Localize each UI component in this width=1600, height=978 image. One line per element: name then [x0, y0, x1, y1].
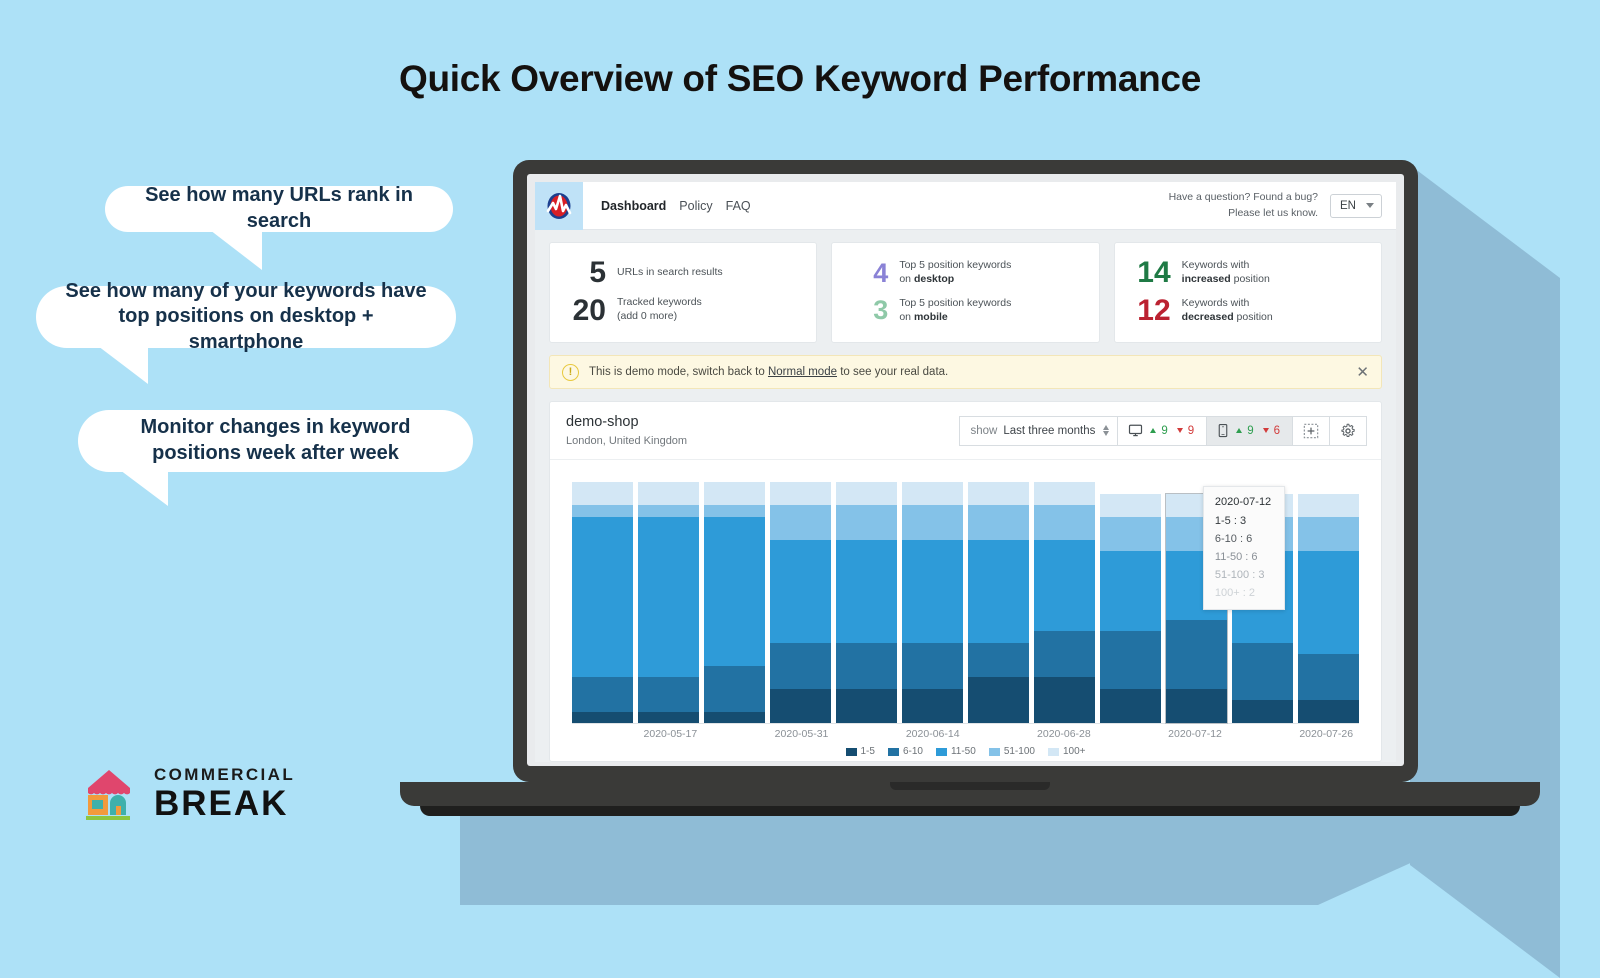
card-top5: 4 Top 5 position keywords on desktop 3 T…	[831, 242, 1099, 343]
bubble-tail	[210, 230, 262, 270]
stat-label: Keywords with increased position	[1182, 259, 1270, 287]
bar-segment-11-50	[902, 540, 963, 643]
mobile-down-value: 6	[1274, 425, 1280, 437]
desktop-down-metric: 9	[1177, 425, 1196, 437]
bar-segment-1-5	[968, 677, 1029, 723]
shop-house-icon	[78, 762, 140, 824]
legend-swatch	[846, 748, 857, 756]
stat-label: Top 5 position keywords on mobile	[899, 297, 1011, 325]
legend-label: 6-10	[903, 746, 923, 757]
sort-updown-icon	[1103, 425, 1109, 436]
bar-segment-51-100	[770, 505, 831, 539]
bar-segment-1-5	[1100, 689, 1161, 723]
desktop-down-value: 9	[1188, 425, 1194, 437]
stat-value: 3	[850, 298, 888, 322]
tooltip-row-6-10: 6-10 : 6	[1215, 533, 1273, 545]
warning-icon: !	[562, 364, 579, 381]
shop-info: demo-shop London, United Kingdom	[566, 414, 687, 447]
bar-segment-100+	[902, 482, 963, 505]
stat-top5-mobile: 3 Top 5 position keywords on mobile	[850, 297, 1080, 325]
legend-item-1-5[interactable]: 1-5	[846, 746, 875, 757]
laptop-frame: Dashboard Policy FAQ Have a question? Fo…	[513, 160, 1418, 782]
page-title: Quick Overview of SEO Keyword Performanc…	[0, 58, 1600, 100]
monitor-icon	[1128, 423, 1143, 438]
smartphone-icon	[1217, 423, 1229, 438]
stat-label: Tracked keywords (add 0 more)	[617, 296, 702, 324]
label-suffix: position	[1231, 273, 1270, 285]
x-axis-tick: 2020-05-31	[775, 728, 829, 740]
chart-bar[interactable]	[968, 482, 1029, 723]
stat-urls-in-search: 5 URLs in search results	[568, 259, 798, 286]
bubble-tail	[120, 470, 168, 506]
stat-decreased: 12 Keywords with decreased position	[1133, 297, 1363, 325]
chart-legend: 1-56-1011-5051-100100+	[572, 746, 1359, 761]
main-nav: Dashboard Policy FAQ	[601, 199, 751, 213]
bar-segment-1-5	[1166, 689, 1227, 723]
stat-cards: 5 URLs in search results 20 Tracked keyw…	[535, 230, 1396, 343]
x-axis-tick: 2020-05-17	[644, 728, 698, 740]
bar-segment-11-50	[704, 517, 765, 666]
brand-badge[interactable]	[535, 182, 583, 230]
legend-item-51-100[interactable]: 51-100	[989, 746, 1035, 757]
bar-segment-1-5	[638, 712, 699, 723]
app-window: Dashboard Policy FAQ Have a question? Fo…	[535, 182, 1396, 762]
stat-label-line2: increased position	[1182, 273, 1270, 287]
stat-label-line1: Keywords with	[1182, 259, 1270, 273]
chart-bar[interactable]	[836, 482, 897, 723]
close-icon[interactable]: ✕	[1356, 365, 1369, 380]
bar-segment-1-5	[1298, 700, 1359, 723]
nav-item-dashboard[interactable]: Dashboard	[601, 199, 666, 213]
logo-line-2: BREAK	[154, 786, 295, 821]
topbar-right: Have a question? Found a bug? Please let…	[1169, 190, 1396, 220]
x-axis-tick: 2020-07-26	[1299, 728, 1353, 740]
label-suffix: position	[1234, 311, 1273, 323]
stat-tracked-keywords: 20 Tracked keywords (add 0 more)	[568, 296, 798, 324]
bar-segment-6-10	[770, 643, 831, 689]
bar-segment-51-100	[638, 505, 699, 516]
bar-segment-11-50	[836, 540, 897, 643]
stat-label-line1: Tracked keywords	[617, 296, 702, 310]
settings-button[interactable]	[1329, 416, 1367, 446]
chart-toolbar: show Last three months	[960, 416, 1367, 446]
bar-segment-11-50	[572, 517, 633, 677]
stat-label-line2: (add 0 more)	[617, 310, 702, 324]
bar-segment-1-5	[1232, 700, 1293, 723]
bar-segment-1-5	[572, 712, 633, 723]
help-text: Have a question? Found a bug? Please let…	[1169, 190, 1318, 220]
stat-label-line1: Keywords with	[1182, 297, 1273, 311]
period-value: Last three months	[1003, 425, 1095, 437]
banner-text-after: to see your real data.	[837, 366, 948, 378]
legend-item-6-10[interactable]: 6-10	[888, 746, 923, 757]
callout-text: See how many of your keywords have top p…	[62, 279, 430, 356]
chart-x-axis: 2020-05-172020-05-312020-06-142020-06-28…	[572, 724, 1359, 746]
stat-label-text: URLs in search results	[617, 266, 723, 278]
stat-label-line2: decreased position	[1182, 311, 1273, 325]
bar-segment-6-10	[704, 666, 765, 712]
bar-segment-100+	[638, 482, 699, 505]
bar-segment-100+	[836, 482, 897, 505]
stat-value: 4	[850, 261, 888, 285]
stat-label-line1: Top 5 position keywords	[899, 297, 1011, 311]
bar-segment-1-5	[770, 689, 831, 723]
help-line-2: Please let us know.	[1169, 206, 1318, 221]
triangle-down-icon	[1177, 428, 1183, 433]
bar-segment-100+	[1100, 494, 1161, 517]
shop-location: London, United Kingdom	[566, 435, 687, 447]
mobile-up-metric: 9	[1236, 425, 1255, 437]
callout-bubble-monitor-changes: Monitor changes in keyword positions wee…	[78, 410, 473, 472]
desktop-up-metric: 9	[1150, 425, 1169, 437]
tooltip-date: 2020-07-12	[1215, 496, 1273, 508]
logo-line-1: COMMERCIAL	[154, 766, 295, 783]
mobile-down-metric: 6	[1263, 425, 1282, 437]
desktop-up-value: 9	[1161, 425, 1167, 437]
x-axis-tick: 2020-06-14	[906, 728, 960, 740]
legend-label: 1-5	[861, 746, 875, 757]
label-strong: desktop	[914, 273, 954, 285]
bar-segment-11-50	[1034, 540, 1095, 632]
bubble-tail	[98, 346, 148, 384]
triangle-up-icon	[1236, 428, 1242, 433]
legend-label: 11-50	[951, 746, 976, 757]
tooltip-row-100+: 100+ : 2	[1215, 587, 1273, 599]
stat-value: 20	[568, 297, 606, 324]
bar-segment-11-50	[1100, 551, 1161, 631]
desktop-metric-toggle[interactable]: 9 9	[1117, 416, 1207, 446]
add-dashed-square-icon	[1303, 423, 1319, 439]
mobile-up-value: 9	[1247, 425, 1253, 437]
bar-segment-6-10	[902, 643, 963, 689]
x-axis-tick: 2020-06-28	[1037, 728, 1091, 740]
stat-label: Top 5 position keywords on desktop	[899, 259, 1011, 287]
legend-swatch	[989, 748, 1000, 756]
bar-segment-51-100	[902, 505, 963, 539]
language-select[interactable]: EN	[1330, 194, 1382, 218]
chart-tooltip: 2020-07-121-5 : 36-10 : 611-50 : 651-100…	[1203, 486, 1285, 610]
stat-label: URLs in search results	[617, 266, 723, 280]
bar-segment-100+	[968, 482, 1029, 505]
stat-increased: 14 Keywords with increased position	[1133, 259, 1363, 287]
bar-segment-6-10	[638, 677, 699, 711]
tooltip-row-1-5: 1-5 : 3	[1215, 515, 1273, 527]
stat-top5-desktop: 4 Top 5 position keywords on desktop	[850, 259, 1080, 287]
bar-segment-100+	[770, 482, 831, 505]
bar-segment-1-5	[704, 712, 765, 723]
card-urls: 5 URLs in search results 20 Tracked keyw…	[549, 242, 817, 343]
chart-bar[interactable]	[902, 482, 963, 723]
bar-segment-6-10	[1166, 620, 1227, 689]
bar-segment-6-10	[968, 643, 1029, 677]
legend-label: 100+	[1063, 746, 1086, 757]
bar-segment-51-100	[1100, 517, 1161, 551]
legend-swatch	[936, 748, 947, 756]
callout-text: See how many URLs rank in search	[131, 183, 427, 234]
bar-segment-6-10	[572, 677, 633, 711]
demo-mode-banner: ! This is demo mode, switch back to Norm…	[549, 355, 1382, 389]
chevron-down-icon	[1366, 203, 1374, 208]
brand-logo: COMMERCIAL BREAK	[78, 762, 295, 824]
bar-segment-100+	[1298, 494, 1359, 517]
tooltip-row-11-50: 11-50 : 6	[1215, 551, 1273, 563]
chart-bar[interactable]	[572, 482, 633, 723]
chart-bar[interactable]	[1034, 482, 1095, 723]
bar-segment-6-10	[1100, 631, 1161, 688]
legend-label: 51-100	[1004, 746, 1035, 757]
shop-name: demo-shop	[566, 414, 687, 430]
stat-label-line1: Top 5 position keywords	[899, 259, 1011, 273]
banner-text: This is demo mode, switch back to Normal…	[589, 366, 948, 378]
bar-segment-51-100	[836, 505, 897, 539]
chart-bar[interactable]	[1298, 494, 1359, 723]
gear-icon	[1340, 423, 1356, 439]
card-position-changes: 14 Keywords with increased position 12 K…	[1114, 242, 1382, 343]
stat-value: 5	[568, 259, 606, 286]
stat-label-line2: on mobile	[899, 311, 1011, 325]
x-axis-tick: 2020-07-12	[1168, 728, 1222, 740]
legend-item-100+[interactable]: 100+	[1048, 746, 1086, 757]
nav-item-faq[interactable]: FAQ	[726, 199, 751, 213]
legend-swatch	[1048, 748, 1059, 756]
triangle-up-icon	[1150, 428, 1156, 433]
bar-segment-1-5	[836, 689, 897, 723]
label-prefix: on	[899, 273, 914, 285]
bar-segment-51-100	[968, 505, 1029, 539]
bar-segment-51-100	[704, 505, 765, 516]
bar-segment-11-50	[770, 540, 831, 643]
bar-segment-11-50	[968, 540, 1029, 643]
bar-segment-51-100	[572, 505, 633, 516]
wm-logo-icon	[544, 191, 574, 221]
stat-value: 14	[1133, 259, 1171, 286]
mobile-metric-toggle[interactable]: 9 6	[1206, 416, 1293, 446]
help-line-1: Have a question? Found a bug?	[1169, 190, 1318, 205]
period-prefix: show	[970, 425, 997, 437]
bar-segment-6-10	[1034, 631, 1095, 677]
bar-segment-11-50	[1298, 551, 1359, 654]
chart-bar[interactable]	[704, 482, 765, 723]
bar-segment-51-100	[1298, 517, 1359, 551]
bar-segment-1-5	[1034, 677, 1095, 723]
stat-value: 12	[1133, 297, 1171, 324]
laptop-shadow	[1410, 165, 1560, 978]
stat-label-line2: on desktop	[899, 273, 1011, 287]
callout-bubble-top-positions: See how many of your keywords have top p…	[36, 286, 456, 348]
normal-mode-link[interactable]: Normal mode	[768, 366, 837, 378]
stat-label: Keywords with decreased position	[1182, 297, 1273, 325]
tooltip-row-51-100: 51-100 : 3	[1215, 569, 1273, 581]
bar-segment-6-10	[1298, 654, 1359, 700]
label-strong: increased	[1182, 273, 1231, 285]
stacked-bar-chart[interactable]: 2020-07-121-5 : 36-10 : 611-50 : 651-100…	[572, 482, 1359, 724]
bar-segment-100+	[704, 482, 765, 505]
bar-segment-100+	[572, 482, 633, 505]
label-strong: mobile	[914, 311, 948, 323]
app-topbar: Dashboard Policy FAQ Have a question? Fo…	[535, 182, 1396, 230]
callout-text: Monitor changes in keyword positions wee…	[104, 415, 447, 466]
chart-panel: demo-shop London, United Kingdom show La…	[549, 401, 1382, 762]
legend-swatch	[888, 748, 899, 756]
bar-segment-100+	[1034, 482, 1095, 505]
laptop-screen: Dashboard Policy FAQ Have a question? Fo…	[527, 174, 1404, 766]
bar-segment-6-10	[836, 643, 897, 689]
banner-text-before: This is demo mode, switch back to	[589, 366, 768, 378]
chart-area: 2020-07-121-5 : 36-10 : 611-50 : 651-100…	[550, 460, 1381, 761]
panel-header: demo-shop London, United Kingdom show La…	[550, 402, 1381, 460]
bar-segment-51-100	[1034, 505, 1095, 539]
period-select[interactable]: show Last three months	[959, 416, 1118, 446]
laptop-base	[400, 782, 1540, 806]
laptop-foot	[420, 806, 1520, 816]
nav-item-policy[interactable]: Policy	[679, 199, 712, 213]
language-value: EN	[1340, 200, 1356, 212]
callout-bubble-urls: See how many URLs rank in search	[105, 186, 453, 232]
label-strong: decreased	[1182, 311, 1234, 323]
bar-segment-11-50	[638, 517, 699, 677]
bar-segment-6-10	[1232, 643, 1293, 700]
label-prefix: on	[899, 311, 914, 323]
chart-bar[interactable]	[638, 482, 699, 723]
triangle-down-icon	[1263, 428, 1269, 433]
add-widget-button[interactable]	[1292, 416, 1330, 446]
legend-item-11-50[interactable]: 11-50	[936, 746, 976, 757]
bar-segment-1-5	[902, 689, 963, 723]
chart-bar[interactable]	[770, 482, 831, 723]
chart-bar[interactable]	[1100, 494, 1161, 723]
